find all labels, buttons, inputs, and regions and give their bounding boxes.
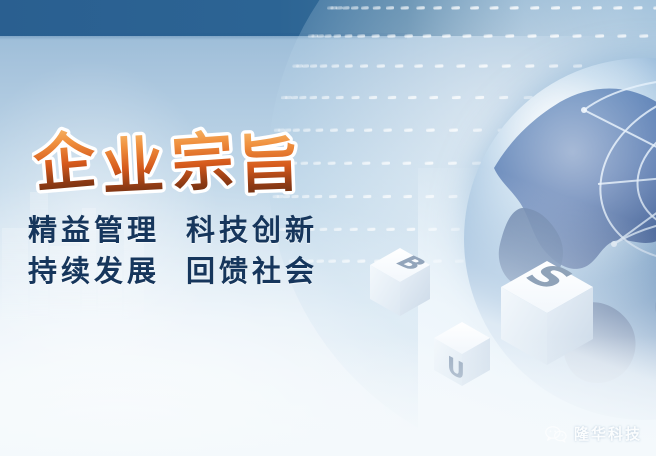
svg-text:业: 业 bbox=[100, 128, 166, 204]
svg-text:企: 企 bbox=[32, 123, 100, 201]
slogan-line-2: 持续发展 回馈社会 bbox=[28, 257, 358, 286]
slogan-gap bbox=[160, 216, 186, 245]
watermark: 隆华科技 bbox=[545, 423, 642, 444]
watermark-text: 隆华科技 bbox=[574, 423, 642, 444]
page-title: 企 业 宗 旨 bbox=[32, 118, 312, 210]
corporate-purpose-poster: B U S bbox=[0, 0, 656, 456]
svg-text:宗: 宗 bbox=[169, 124, 236, 201]
slogan-block: 精益管理 科技创新 持续发展 回馈社会 bbox=[28, 216, 358, 286]
wechat-icon bbox=[545, 425, 567, 443]
slogan-line1-left: 精益管理 bbox=[28, 216, 160, 245]
letter-cube-b: B bbox=[368, 246, 432, 318]
slogan-gap bbox=[160, 257, 186, 286]
slogan-line1-right: 科技创新 bbox=[186, 216, 318, 245]
svg-text:旨: 旨 bbox=[237, 127, 302, 202]
slogan-line-1: 精益管理 科技创新 bbox=[28, 216, 358, 245]
slogan-line2-left: 持续发展 bbox=[28, 257, 160, 286]
slogan-line2-right: 回馈社会 bbox=[186, 257, 318, 286]
